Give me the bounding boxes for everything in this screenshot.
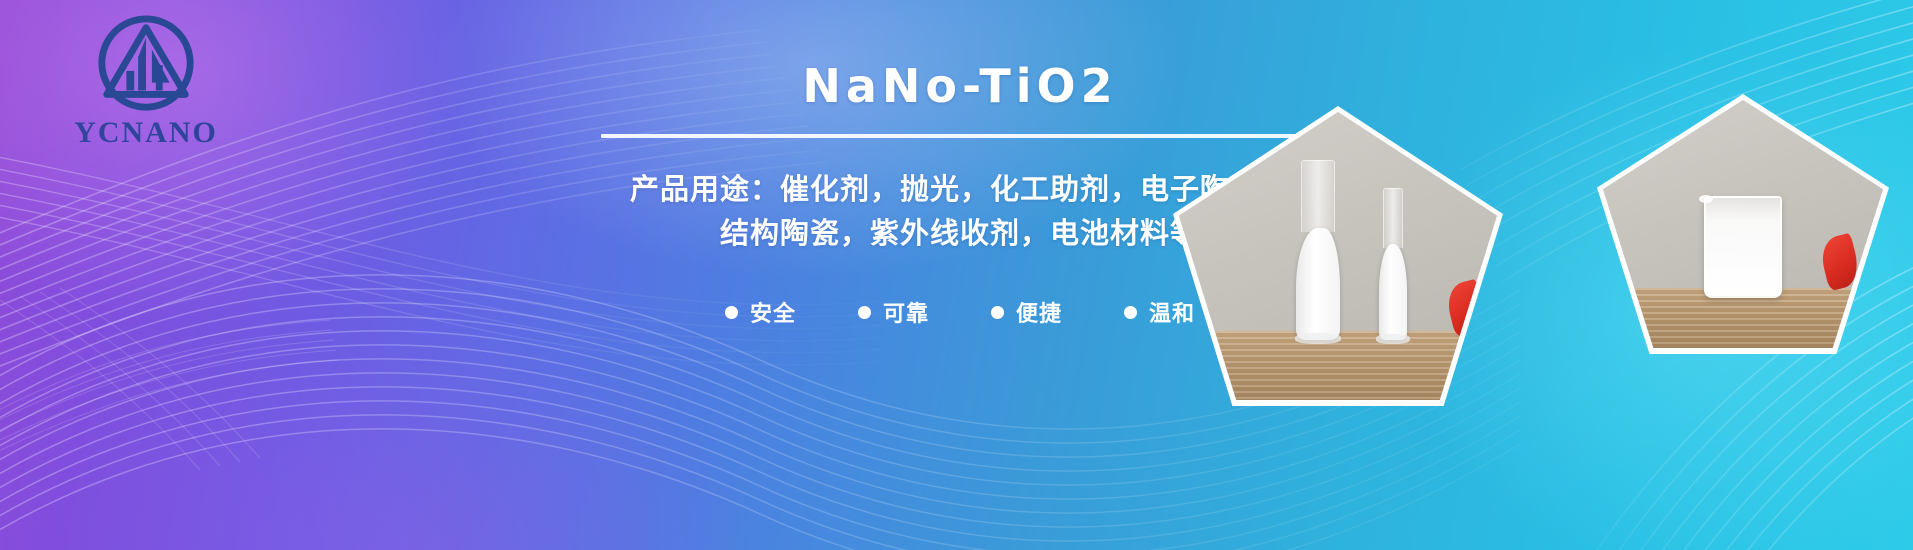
product-photo-vases[interactable] <box>1173 106 1503 406</box>
feature-label: 安全 <box>750 296 796 328</box>
product-photo-beaker[interactable] <box>1597 94 1889 354</box>
vase-object-tall <box>1293 160 1343 340</box>
bullet-dot-icon <box>1124 306 1137 319</box>
feature-label: 可靠 <box>883 296 929 328</box>
bullet-dot-icon <box>991 306 1004 319</box>
feature-item-reliable: 可靠 <box>858 296 929 328</box>
product-photo-vases-image <box>1179 112 1497 400</box>
background-glow-violet <box>60 320 760 550</box>
feature-label: 便捷 <box>1016 296 1062 328</box>
product-photo-group <box>1153 0 1913 550</box>
beaker-object <box>1704 196 1782 298</box>
ycnano-triangle-logo-icon <box>87 14 205 118</box>
company-logo[interactable]: YCNANO <box>48 14 244 160</box>
logo-wordmark: YCNANO <box>48 116 244 150</box>
bullet-dot-icon <box>725 306 738 319</box>
feature-item-convenient: 便捷 <box>991 296 1062 328</box>
feature-item-safe: 安全 <box>725 296 796 328</box>
photo-scene <box>1603 100 1883 348</box>
photo-scene <box>1179 112 1497 400</box>
bullet-dot-icon <box>858 306 871 319</box>
vase-object-short <box>1373 188 1413 340</box>
product-banner: YCNANO NaNo-TiO2 产品用途：催化剂，抛光，化工助剂，电子陶瓷， … <box>0 0 1913 550</box>
product-photo-beaker-image <box>1603 100 1883 348</box>
